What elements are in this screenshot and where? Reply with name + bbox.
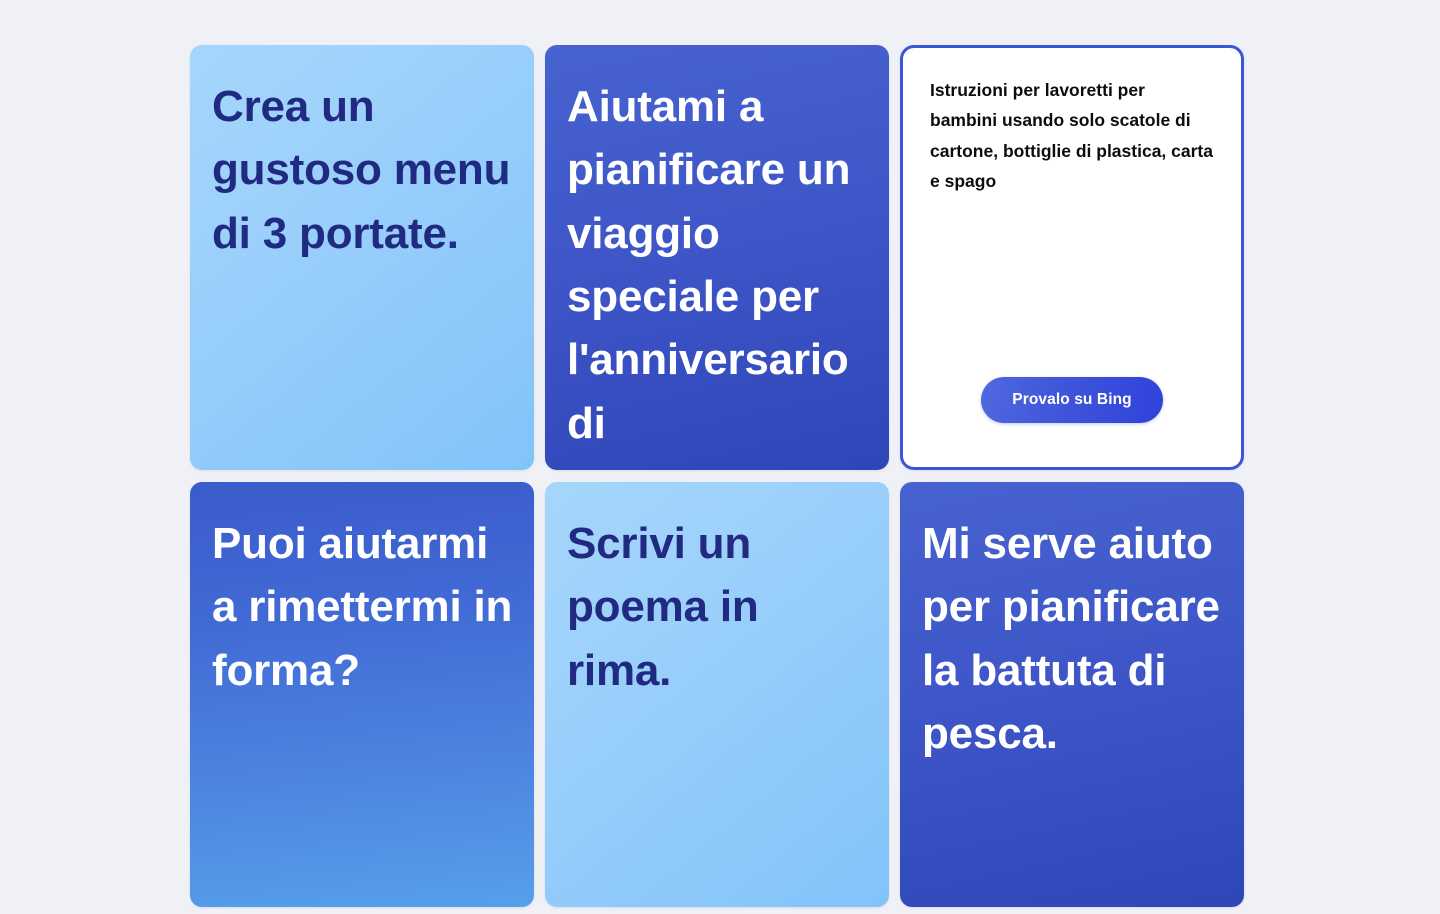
suggestion-card-lavoretti-bambini[interactable]: Istruzioni per lavoretti per bambini usa… bbox=[900, 45, 1244, 470]
suggestion-card-action-area: Provalo su Bing bbox=[903, 196, 1241, 467]
suggestion-card-text: Puoi aiutarmi a rimettermi in forma? bbox=[212, 512, 516, 702]
suggestion-card-text: Istruzioni per lavoretti per bambini usa… bbox=[930, 75, 1214, 196]
try-on-bing-button[interactable]: Provalo su Bing bbox=[981, 377, 1163, 423]
suggestion-card-poema-in-rima[interactable]: Scrivi un poema in rima. bbox=[545, 482, 889, 907]
suggestion-card-battuta-di-pesca[interactable]: Mi serve aiuto per pianificare la battut… bbox=[900, 482, 1244, 907]
suggestion-card-rimettermi-in-forma[interactable]: Puoi aiutarmi a rimettermi in forma? bbox=[190, 482, 534, 907]
suggestion-card-text: Aiutami a pianificare un viaggio special… bbox=[567, 75, 871, 455]
suggestion-card-text: Crea un gustoso menu di 3 portate. bbox=[212, 75, 516, 265]
suggestion-card-grid: Crea un gustoso menu di 3 portate. Aiuta… bbox=[190, 45, 1245, 907]
suggestion-card-text: Mi serve aiuto per pianificare la battut… bbox=[922, 512, 1226, 765]
suggestion-card-viaggio-anniversario[interactable]: Aiutami a pianificare un viaggio special… bbox=[545, 45, 889, 470]
suggestion-card-body: Istruzioni per lavoretti per bambini usa… bbox=[903, 48, 1241, 196]
suggestion-card-text: Scrivi un poema in rima. bbox=[567, 512, 871, 702]
suggestion-card-menu-3-portate[interactable]: Crea un gustoso menu di 3 portate. bbox=[190, 45, 534, 470]
